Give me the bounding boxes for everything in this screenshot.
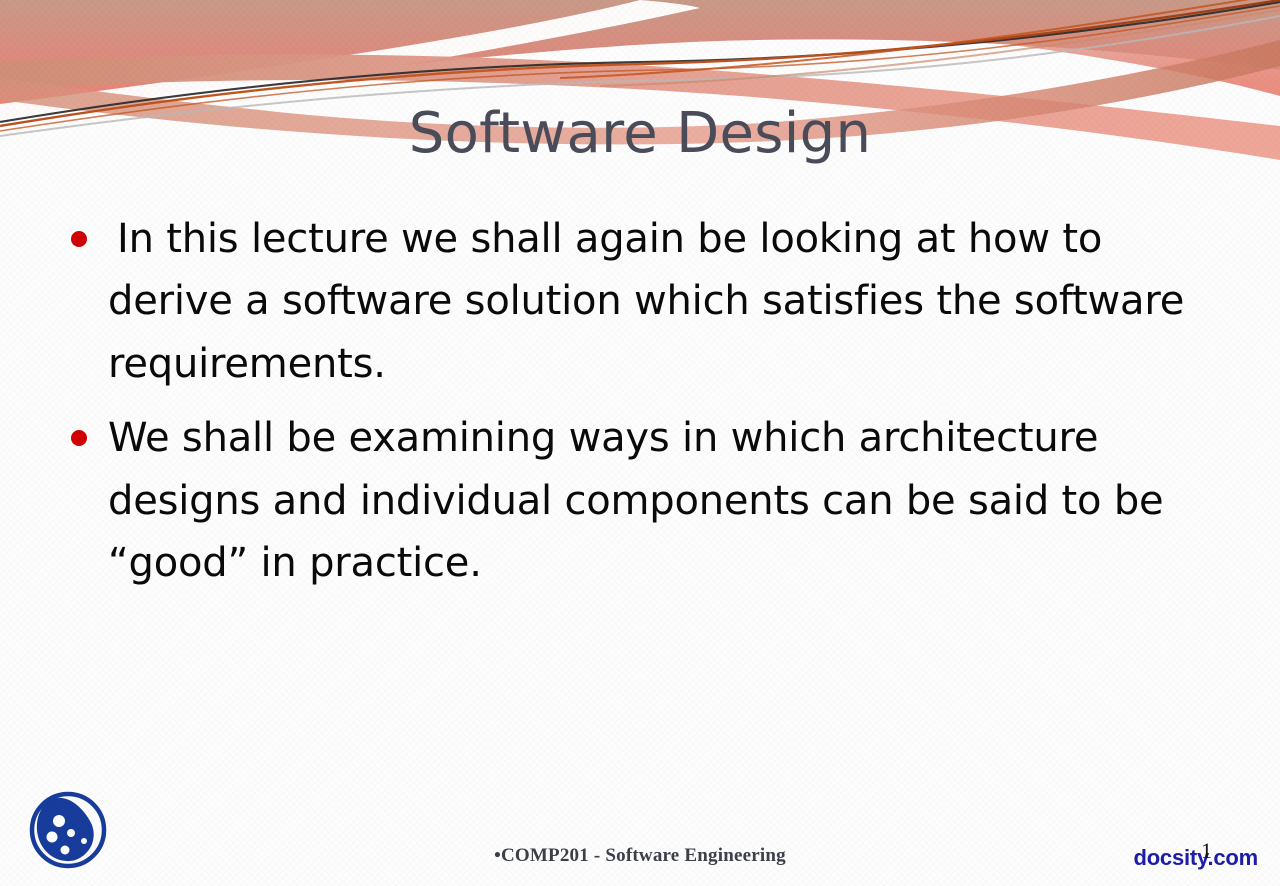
list-item-text: In this lecture we shall again be lookin… [108, 216, 1184, 387]
list-item: We shall be examining ways in which arch… [62, 407, 1222, 594]
slide-title: Software Design [0, 103, 1280, 165]
bullet-dot-icon [71, 231, 87, 247]
list-item-text: We shall be examining ways in which arch… [108, 415, 1163, 586]
page-number: 1 [1201, 838, 1212, 864]
docsity-watermark: docsity.com [1133, 845, 1258, 871]
slide-canvas: Software Design In this lecture we shall… [0, 0, 1280, 886]
bullet-list: In this lecture we shall again be lookin… [62, 208, 1222, 606]
footer-course-label: •COMP201 - Software Engineering [0, 845, 1280, 867]
bullet-dot-icon [71, 430, 87, 446]
list-item: In this lecture we shall again be lookin… [62, 208, 1222, 395]
